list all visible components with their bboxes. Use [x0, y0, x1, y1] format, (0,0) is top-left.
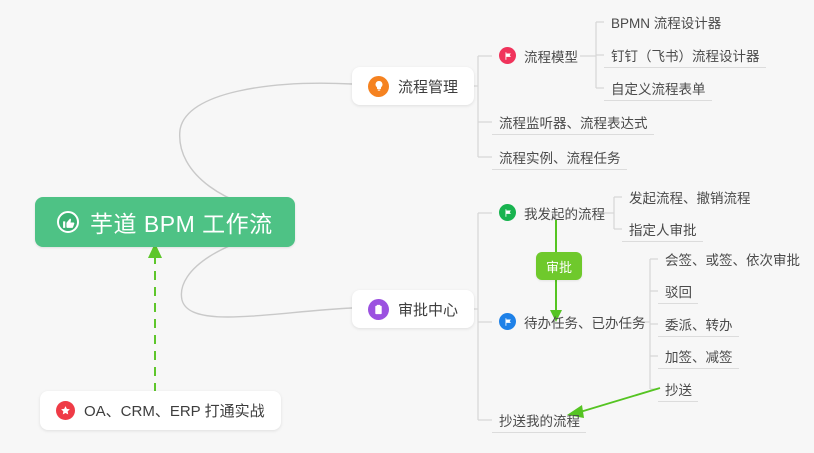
node-start-cancel-process[interactable]: 发起流程、撤销流程 [622, 184, 757, 210]
node-add-remove-sign[interactable]: 加签、减签 [658, 343, 739, 369]
node-todo-done-tasks[interactable]: 待办任务、已办任务 [492, 309, 652, 335]
thumbs-up-icon [57, 211, 79, 233]
branch-process-management[interactable]: 流程管理 [352, 67, 474, 105]
node-label: 抄送 [665, 379, 692, 399]
node-label: 发起流程、撤销流程 [629, 187, 751, 207]
branch-label: 流程管理 [398, 76, 458, 97]
root-node-label: 芋道 BPM 工作流 [90, 205, 273, 239]
node-countersign[interactable]: 会签、或签、依次审批 [658, 246, 806, 272]
flag-icon [499, 313, 516, 330]
node-custom-form[interactable]: 自定义流程表单 [604, 75, 712, 101]
node-label: 我发起的流程 [524, 203, 605, 223]
node-my-initiated-processes[interactable]: 我发起的流程 [492, 200, 611, 226]
star-icon [56, 401, 75, 420]
clipboard-icon [368, 299, 389, 320]
node-label: 自定义流程表单 [611, 78, 706, 98]
integration-note-card[interactable]: OA、CRM、ERP 打通实战 [40, 391, 281, 430]
node-label: 钉钉（飞书）流程设计器 [611, 45, 760, 65]
node-label: 待办任务、已办任务 [524, 312, 646, 332]
flag-icon [499, 204, 516, 221]
integration-note-label: OA、CRM、ERP 打通实战 [84, 400, 265, 421]
node-label: 流程实例、流程任务 [499, 147, 621, 167]
branch-approval-center[interactable]: 审批中心 [352, 290, 474, 328]
node-label: 流程模型 [524, 46, 578, 66]
node-process-model[interactable]: 流程模型 [492, 43, 584, 69]
node-label: 驳回 [665, 281, 692, 301]
cc-arrow-line [580, 388, 660, 412]
approval-tag-label: 审批 [546, 257, 572, 276]
node-label: 抄送我的流程 [499, 410, 580, 430]
node-label: 指定人审批 [629, 219, 697, 239]
lightbulb-icon [368, 76, 389, 97]
root-node[interactable]: 芋道 BPM 工作流 [35, 197, 295, 247]
branch-label: 审批中心 [398, 299, 458, 320]
node-delegate-transfer[interactable]: 委派、转办 [658, 311, 739, 337]
node-reject[interactable]: 驳回 [658, 278, 698, 304]
node-label: 委派、转办 [665, 314, 733, 334]
node-label: 会签、或签、依次审批 [665, 249, 800, 269]
mindmap-canvas: 芋道 BPM 工作流 流程管理 流程模型 BPMN 流程设计器 钉钉（飞书）流程… [0, 0, 814, 453]
node-label: 加签、减签 [665, 346, 733, 366]
node-cc-to-me[interactable]: 抄送我的流程 [492, 407, 586, 433]
node-cc[interactable]: 抄送 [658, 376, 698, 402]
node-assignee-approval[interactable]: 指定人审批 [622, 216, 703, 242]
flag-icon [499, 47, 516, 64]
node-bpmn-designer[interactable]: BPMN 流程设计器 [604, 9, 727, 35]
approval-tag[interactable]: 审批 [536, 252, 582, 280]
node-label: BPMN 流程设计器 [611, 12, 721, 32]
link-root-to-process-management [180, 83, 352, 212]
node-instance-task[interactable]: 流程实例、流程任务 [492, 144, 627, 170]
node-listener-expression[interactable]: 流程监听器、流程表达式 [492, 109, 654, 135]
node-dingtalk-designer[interactable]: 钉钉（飞书）流程设计器 [604, 42, 766, 68]
node-label: 流程监听器、流程表达式 [499, 112, 648, 132]
